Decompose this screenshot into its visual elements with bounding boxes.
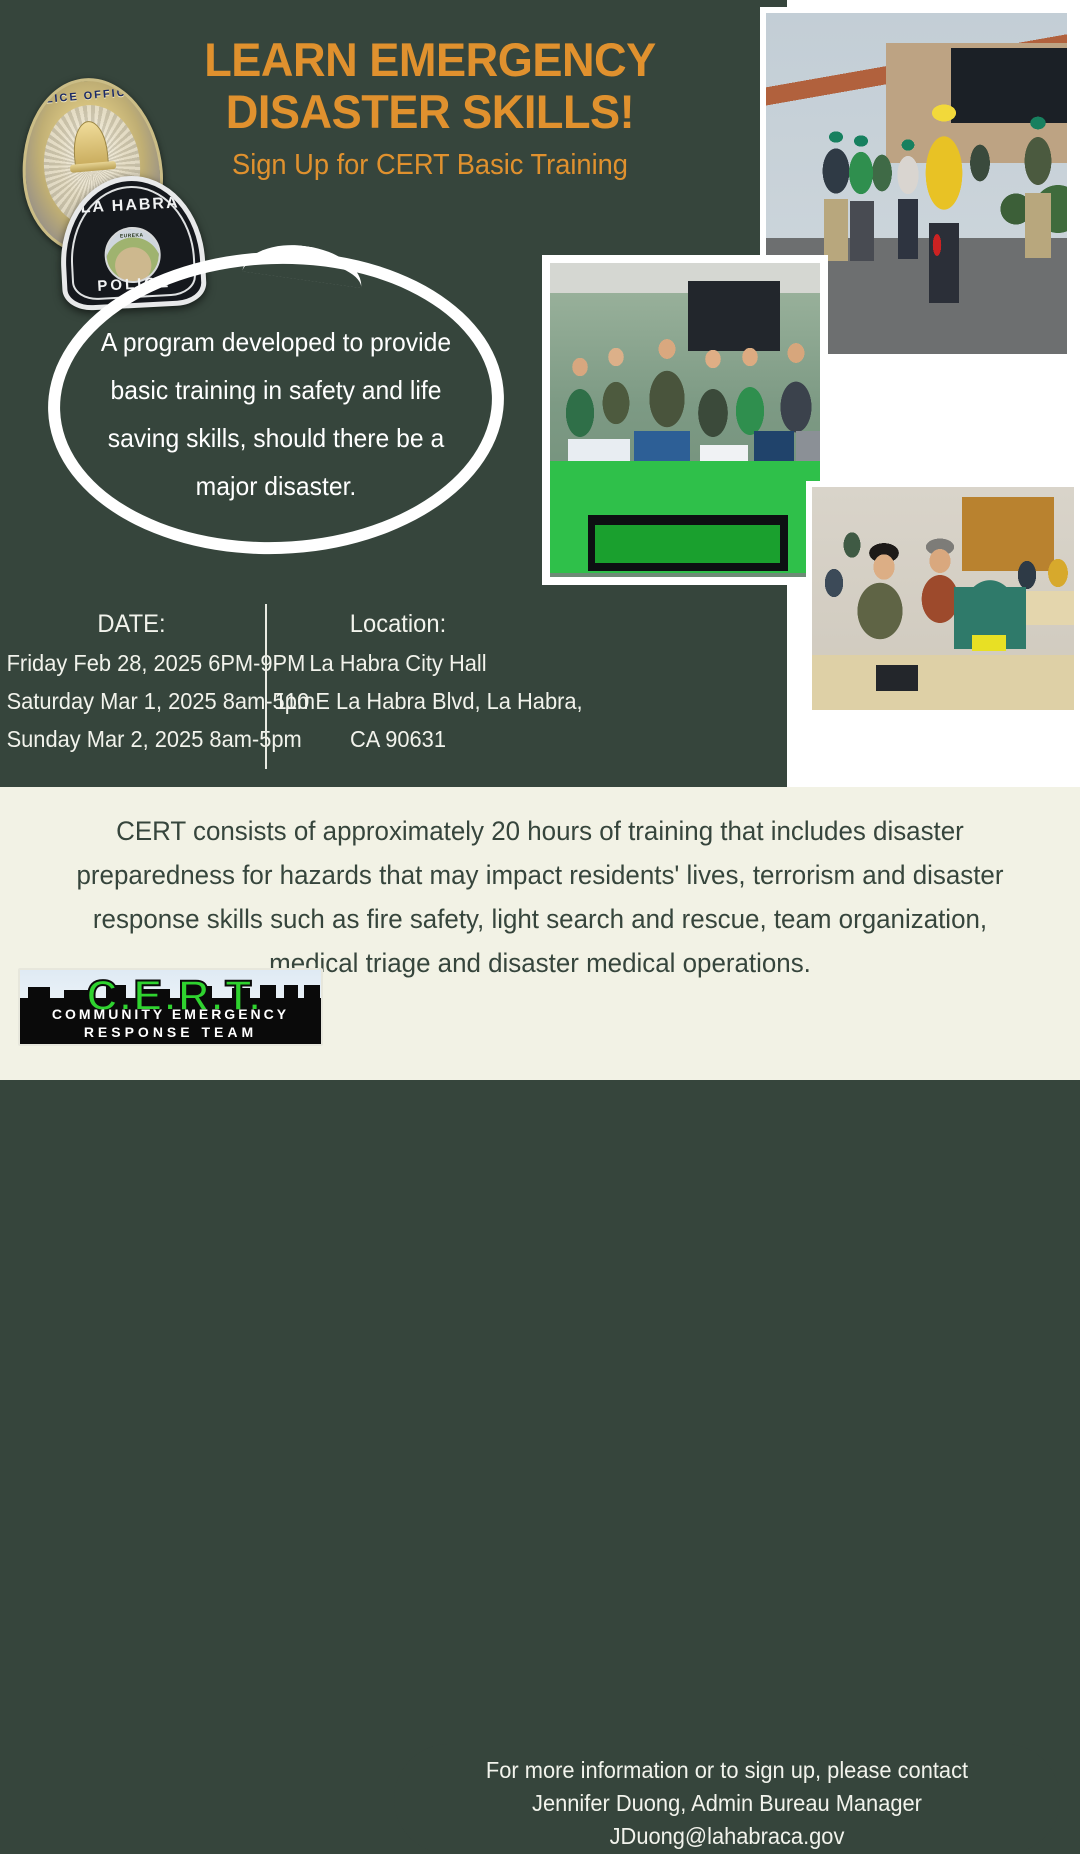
- program-description-callout: A program developed to provide basic tra…: [48, 252, 504, 554]
- date-line-1: Friday Feb 28, 2025 6PM-9PM: [7, 644, 257, 682]
- page-title: LEARN EMERGENCY DISASTER SKILLS!: [142, 34, 718, 138]
- location-heading: Location:: [275, 604, 522, 644]
- date-line-2: Saturday Mar 1, 2025 8am-5pm: [7, 682, 257, 720]
- patch-seal-text: EUREKA: [106, 232, 158, 241]
- location-line-2: 110 E La Habra Blvd, La Habra,: [275, 682, 522, 720]
- flyer-canvas: POLICE OFFICER 1929 LA HABRA LA HABRA EU…: [0, 0, 1080, 1080]
- cert-logo-line-1: COMMUNITY EMERGENCY: [20, 1006, 321, 1022]
- body-paragraph: CERT consists of approximately 20 hours …: [50, 809, 1029, 985]
- date-heading: DATE:: [7, 604, 257, 644]
- event-details: DATE: Friday Feb 28, 2025 6PM-9PM Saturd…: [0, 604, 780, 784]
- bottom-band: CERT consists of approximately 20 hours …: [0, 787, 1080, 1080]
- location-column: Location: La Habra City Hall 110 E La Ha…: [268, 604, 528, 758]
- contact-line-1: For more information or to sign up, plea…: [411, 1754, 1044, 1787]
- program-description-text: A program developed to provide basic tra…: [99, 318, 452, 510]
- cert-classroom-photo: [806, 481, 1080, 716]
- cert-outreach-table-photo: [542, 255, 828, 585]
- cert-logo: C.E.R.T. COMMUNITY EMERGENCY RESPONSE TE…: [18, 968, 323, 1046]
- page-subtitle: Sign Up for CERT Basic Training: [148, 148, 712, 182]
- date-line-3: Sunday Mar 2, 2025 8am-5pm: [7, 720, 257, 758]
- contact-line-2: Jennifer Duong, Admin Bureau Manager: [411, 1787, 1044, 1820]
- column-divider: [265, 604, 267, 769]
- cert-logo-line-2: RESPONSE TEAM: [20, 1024, 321, 1040]
- contact-box: For more information or to sign up, plea…: [394, 1744, 1060, 1854]
- contact-email[interactable]: JDuong@lahabraca.gov: [411, 1820, 1044, 1853]
- location-line-3: CA 90631: [275, 720, 522, 758]
- location-line-1: La Habra City Hall: [275, 644, 522, 682]
- date-column: DATE: Friday Feb 28, 2025 6PM-9PM Saturd…: [0, 604, 263, 758]
